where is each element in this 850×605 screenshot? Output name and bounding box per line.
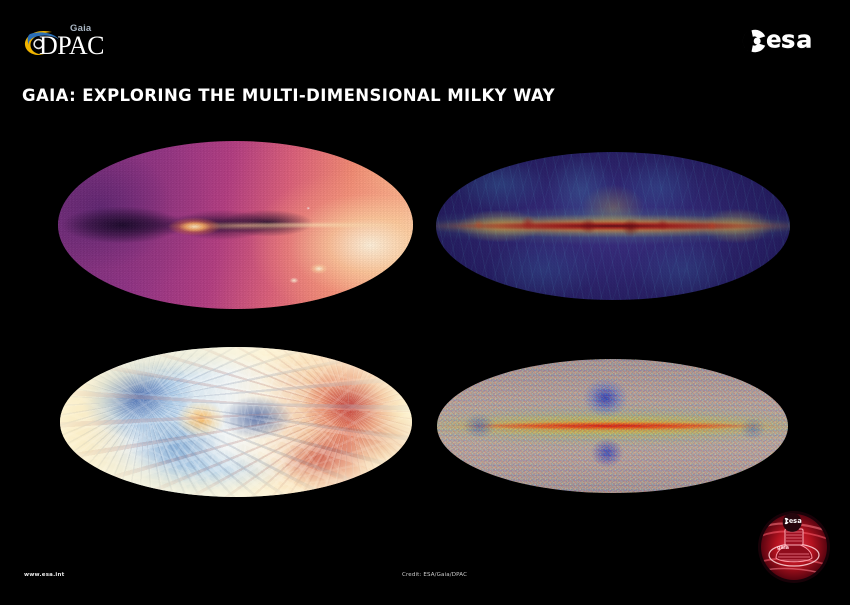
rv-noise-fine	[437, 359, 788, 493]
gaia-dpac-logo[interactable]: Gaia DPAC	[22, 22, 117, 67]
flow-edge-highlight	[60, 347, 412, 497]
gaia-poster: Gaia DPAC GAIA: EXPLORING THE MULTI-DIME…	[0, 0, 850, 605]
badge-mission-text: gaia	[777, 545, 789, 551]
sky-map-velocity-flow[interactable]	[60, 347, 412, 497]
sky-map-interstellar-dust[interactable]	[436, 152, 790, 300]
sky-map-stellar-density[interactable]	[58, 141, 413, 309]
density-grain	[58, 141, 413, 309]
gaia-mission-badge-icon[interactable]: gaia	[755, 508, 833, 586]
sky-map-radial-velocity[interactable]	[437, 359, 788, 493]
footer-website-link[interactable]: www.esa.int	[24, 572, 64, 578]
dpac-logo-dpac-text: DPAC	[39, 33, 104, 59]
footer-credit-text: Credit: ESA/Gaia/DPAC	[402, 572, 467, 578]
esa-logo-icon	[738, 26, 818, 56]
dust-grain	[436, 152, 790, 300]
page-title: GAIA: EXPLORING THE MULTI-DIMENSIONAL MI…	[22, 86, 555, 105]
esa-logo[interactable]	[738, 24, 818, 58]
